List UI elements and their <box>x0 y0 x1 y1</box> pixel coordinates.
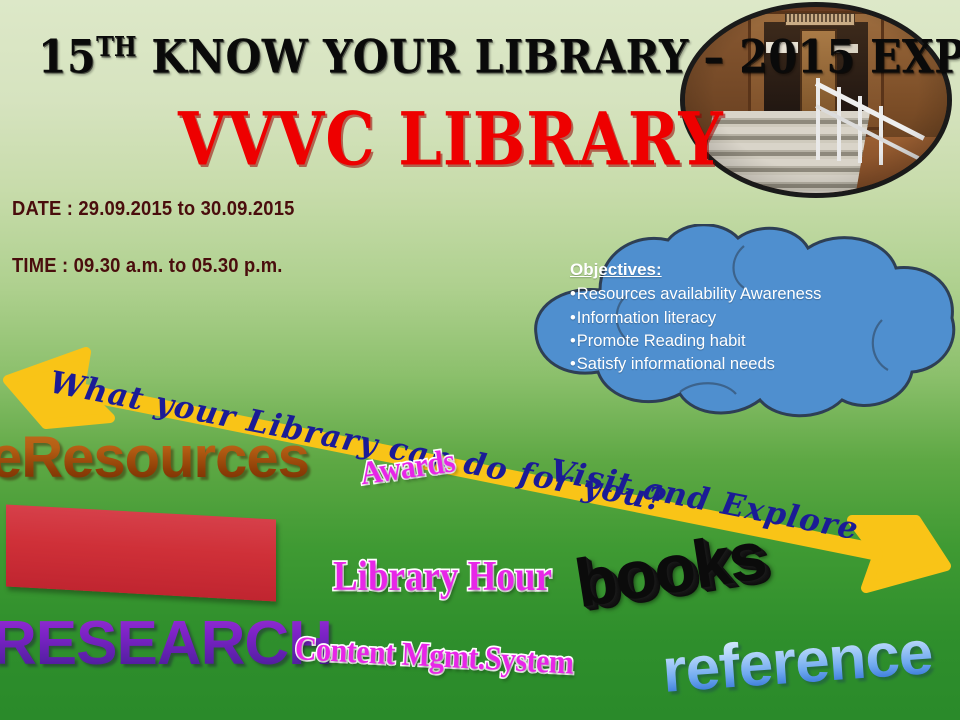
eresources-wordart: eResources <box>0 424 309 491</box>
poster-title-main: KNOW YOUR LIBRARY – 2015 EXPO <box>137 30 960 84</box>
poster-title-superscript: TH <box>96 30 137 62</box>
library-hour-wordart: Library Hour <box>333 552 552 601</box>
objectives-item: Resources availability Awareness <box>570 283 930 306</box>
poster-canvas: 15TH KNOW YOUR LIBRARY – 2015 EXPO VVVC … <box>0 0 960 720</box>
books-wordart: books <box>570 516 770 623</box>
research-wordart: RESEARCH <box>0 608 332 679</box>
poster-title: 15TH KNOW YOUR LIBRARY – 2015 EXPO <box>38 30 960 84</box>
content-mgmt-system-wordart: Content Mgmt.System <box>294 630 574 683</box>
event-date: DATE : 29.09.2015 to 30.09.2015 <box>12 198 295 221</box>
poster-subtitle: VVVC LIBRARY <box>178 96 724 182</box>
event-time: TIME : 09.30 a.m. to 05.30 p.m. <box>12 255 283 278</box>
blank-red-banner <box>6 504 276 601</box>
objectives-heading: Objectives: <box>570 258 930 282</box>
poster-title-prefix: 15 <box>38 30 96 84</box>
objectives-item: Information literacy <box>570 307 930 330</box>
